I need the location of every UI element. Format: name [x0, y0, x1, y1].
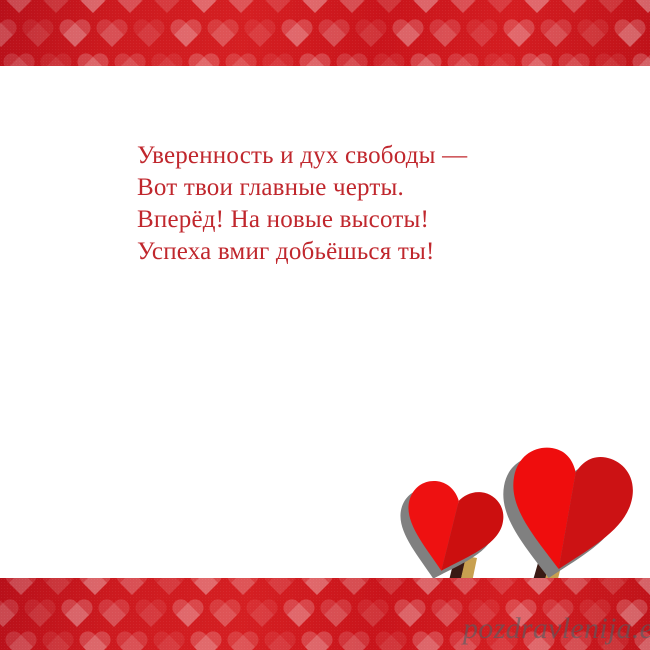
large-heart-light-half	[500, 442, 580, 569]
small-heart	[395, 476, 509, 583]
verse-line-4: Успеха вмиг добьёшься ты!	[137, 236, 557, 268]
small-heart-light-half	[395, 476, 462, 571]
greeting-card: Уверенность и дух свободы — Вот твои гла…	[0, 0, 650, 650]
top-heart-border	[0, 0, 650, 66]
small-heart-shadow	[387, 484, 501, 591]
greeting-verse: Уверенность и дух свободы — Вот твои гла…	[137, 140, 557, 268]
verse-line-3: Вперёд! На новые высоты!	[137, 204, 557, 236]
heart-lollipops-illustration	[0, 0, 650, 650]
large-heart-shadow	[490, 451, 629, 588]
top-border-texture	[0, 0, 650, 66]
large-heart	[500, 442, 639, 579]
site-watermark: pozdravlenija.eu	[463, 612, 650, 646]
large-heart-dark-half	[559, 453, 639, 580]
verse-line-2: Вот твои главные черты.	[137, 172, 557, 204]
small-heart-dark-half	[441, 487, 508, 582]
verse-line-1: Уверенность и дух свободы —	[137, 140, 557, 172]
